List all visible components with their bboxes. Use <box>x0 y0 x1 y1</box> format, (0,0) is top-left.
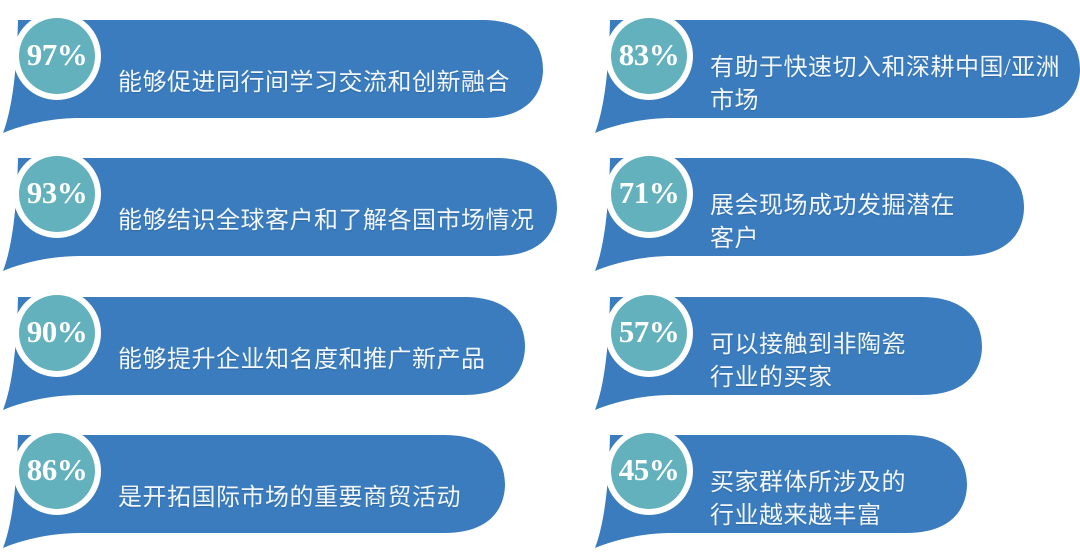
callout-shape <box>0 415 517 553</box>
callout-shape <box>0 0 555 138</box>
stat-callout: 45%买家群体所涉及的 行业越来越丰富 <box>592 415 979 553</box>
callout-shape <box>592 277 994 415</box>
percent-circle <box>19 295 95 371</box>
stat-callout: 97%能够促进同行间学习交流和创新融合 <box>0 0 555 138</box>
percent-circle <box>19 156 95 232</box>
callout-shape <box>592 415 979 553</box>
percent-circle <box>611 156 687 232</box>
stat-callout: 86%是开拓国际市场的重要商贸活动 <box>0 415 517 553</box>
callout-shape <box>0 277 537 415</box>
callout-shape <box>0 138 569 276</box>
percent-circle <box>611 18 687 94</box>
callout-shape <box>592 138 1036 276</box>
percent-circle <box>611 433 687 509</box>
stat-callout: 93%能够结识全球客户和了解各国市场情况 <box>0 138 569 276</box>
stat-callout: 57%可以接触到非陶瓷 行业的买家 <box>592 277 994 415</box>
percent-circle <box>19 433 95 509</box>
percent-circle <box>611 295 687 371</box>
infographic-canvas: 97%能够促进同行间学习交流和创新融合93%能够结识全球客户和了解各国市场情况9… <box>0 0 1080 548</box>
stat-callout: 83%有助于快速切入和深耕中国/亚洲 市场 <box>592 0 1080 138</box>
callout-shape <box>592 0 1080 138</box>
stat-callout: 71%展会现场成功发掘潜在 客户 <box>592 138 1036 276</box>
stat-callout: 90%能够提升企业知名度和推广新产品 <box>0 277 537 415</box>
percent-circle <box>19 18 95 94</box>
